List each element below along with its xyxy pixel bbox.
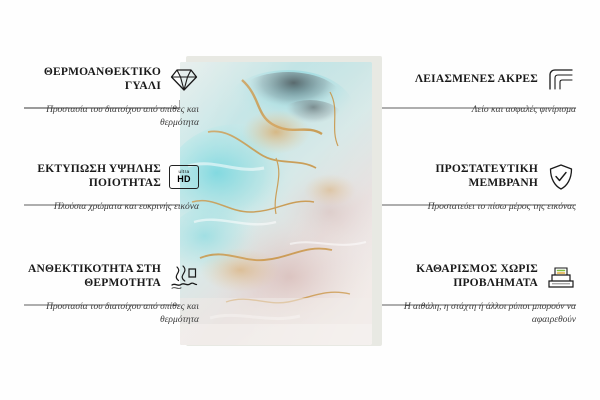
- product-image: [180, 62, 372, 345]
- ultra-hd-hd-label: HD: [177, 175, 191, 184]
- feature-description: Προστασία του διατοίχου από σπίθες και θ…: [24, 104, 199, 130]
- feature-title: ΠΡΟΣΤΑΤΕΥΤΙΚΗ ΜΕΜΒΡΑΝΗ: [401, 163, 538, 190]
- infographic-page: ΘΕΡΜΟΑΝΘΕΚΤΙΚΟ ΓΥΑΛΙ Προστασία του διατο…: [0, 0, 600, 400]
- feature-title: ΑΝΘΕΚΤΙΚΟΤΗΤΑ ΣΤΗ ΘΕΡΜΟΤΗΤΑ: [24, 263, 161, 290]
- feature-title: ΚΑΘΑΡΙΣΜΟΣ ΧΩΡΙΣ ΠΡΟΒΛΗΜΑΤΑ: [401, 263, 538, 290]
- heat-resistant-icon: [169, 262, 199, 292]
- feature-heat-resistance: ΑΝΘΕΚΤΙΚΟΤΗΤΑ ΣΤΗ ΘΕΡΜΟΤΗΤΑ Προστασία το…: [24, 260, 199, 327]
- product-artwork: [180, 62, 372, 345]
- feature-title: ΕΚΤΥΠΩΣΗ ΥΨΗΛΗΣ ΠΟΙΟΤΗΤΑΣ: [24, 163, 161, 190]
- feature-thermal-glass: ΘΕΡΜΟΑΝΘΕΚΤΙΚΟ ΓΥΑΛΙ Προστασία του διατο…: [24, 63, 199, 130]
- smooth-edges-icon: [546, 65, 576, 95]
- feature-description: Λείο και ασφαλές φινίρισμα: [401, 104, 576, 117]
- feature-high-quality-print: ΕΚΤΥΠΩΣΗ ΥΨΗΛΗΣ ΠΟΙΟΤΗΤΑΣ ultra HD Πλούσ…: [24, 160, 199, 214]
- feature-title: ΛΕΙΑΣΜΕΝΕΣ ΑΚΡΕΣ: [401, 73, 538, 87]
- ultra-hd-icon: ultra HD: [169, 162, 199, 192]
- shield-icon: [546, 162, 576, 192]
- feature-description: Προστασία του διατοίχου από σπίθες και θ…: [24, 301, 199, 327]
- easy-clean-icon: [546, 262, 576, 292]
- feature-description: Η αιθάλη, η στάχτη ή άλλοι ρύποι μπορούν…: [401, 301, 576, 327]
- feature-description: Προστατεύει το πίσω μέρος της εικόνας: [401, 201, 576, 214]
- feature-protective-film: ΠΡΟΣΤΑΤΕΥΤΙΚΗ ΜΕΜΒΡΑΝΗ Προστατεύει το πί…: [401, 160, 576, 214]
- diamond-icon: [169, 65, 199, 95]
- feature-description: Πλούσια χρώματα και ευκρινής εικόνα: [24, 201, 199, 214]
- feature-title: ΘΕΡΜΟΑΝΘΕΚΤΙΚΟ ΓΥΑΛΙ: [24, 66, 161, 93]
- feature-easy-cleaning: ΚΑΘΑΡΙΣΜΟΣ ΧΩΡΙΣ ΠΡΟΒΛΗΜΑΤΑ Η αιθάλη, η …: [401, 260, 576, 327]
- feature-smooth-edges: ΛΕΙΑΣΜΕΝΕΣ ΑΚΡΕΣ Λείο και ασφαλές φινίρι…: [401, 63, 576, 117]
